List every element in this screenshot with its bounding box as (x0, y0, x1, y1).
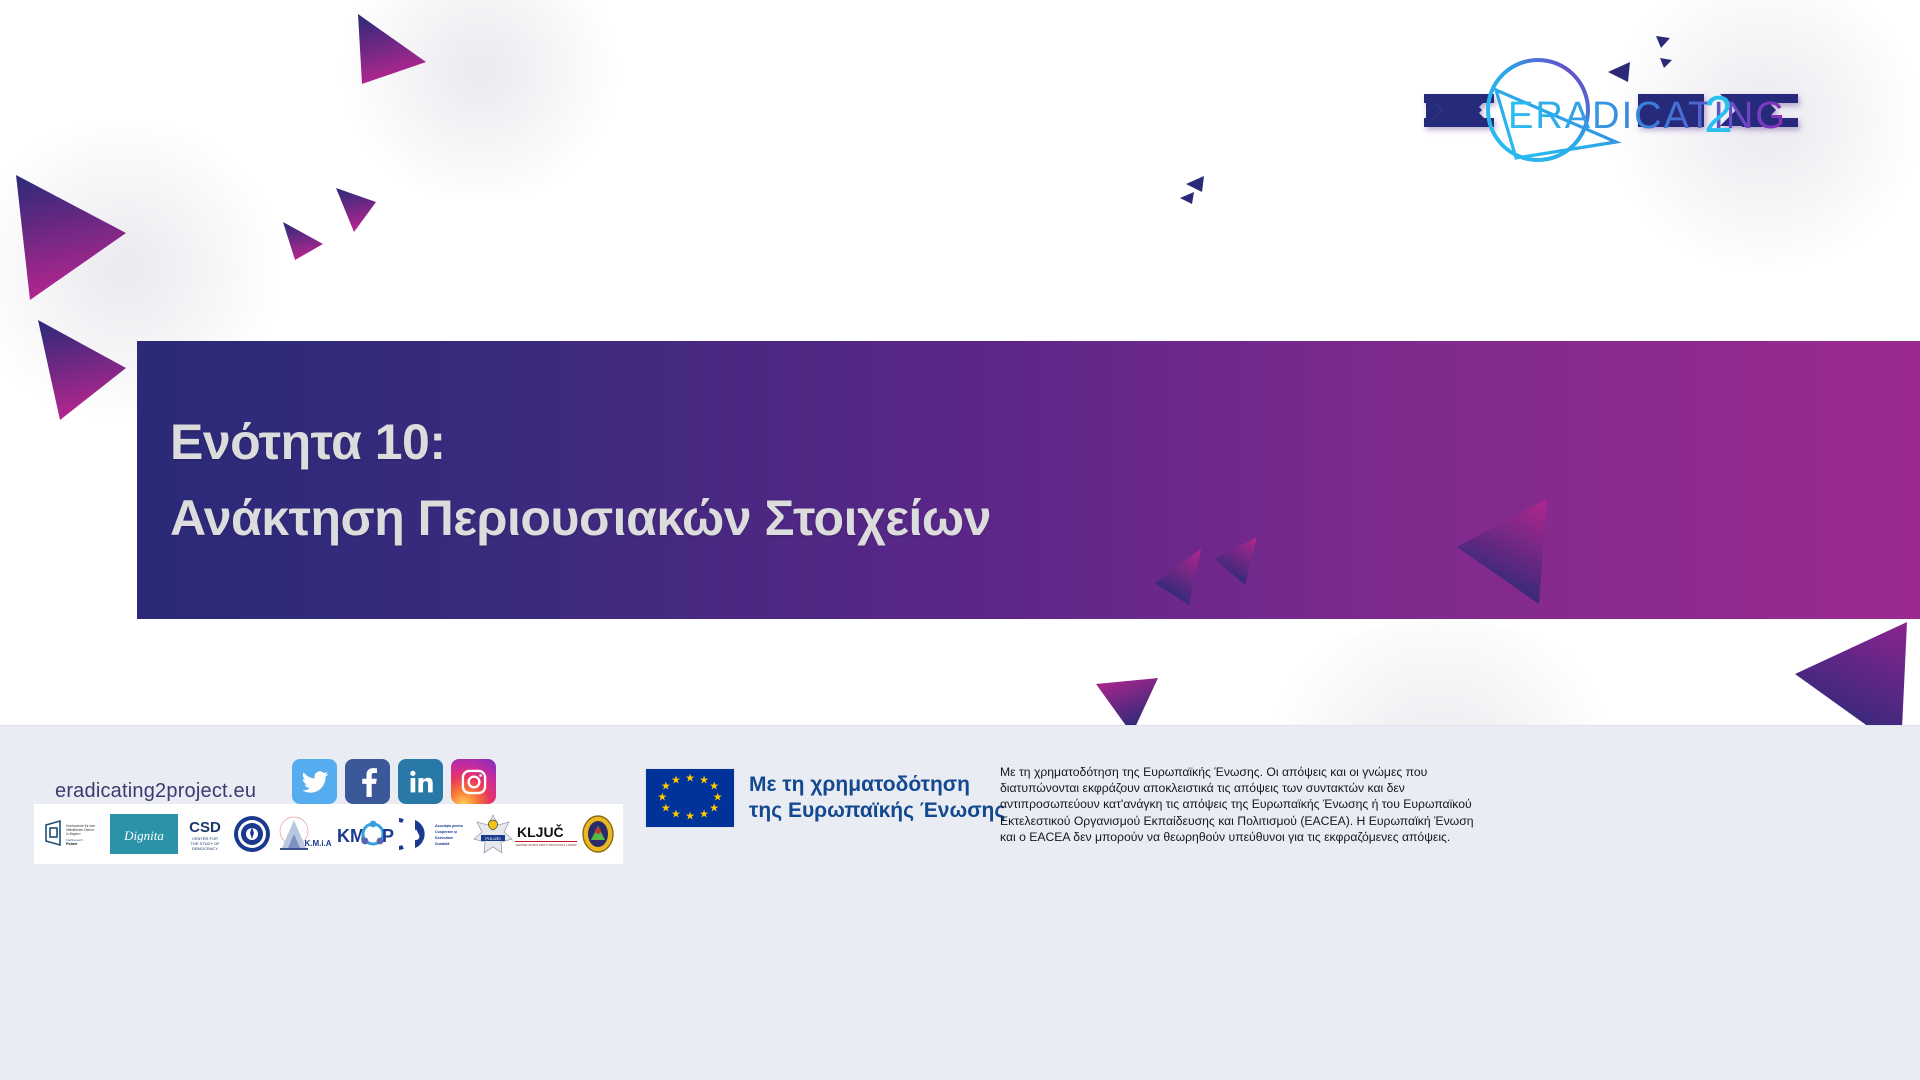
eu-funding-line-2: της Ευρωπαϊκής Ένωσης (749, 798, 1005, 824)
decor-triangle (1656, 36, 1670, 48)
decor-triangle (1155, 549, 1201, 605)
slide-title-line-2: Ανάκτηση Περιουσιακών Στοιχείων (170, 480, 1920, 556)
svg-text:Polizei: Polizei (66, 842, 77, 846)
svg-text:P: P (382, 826, 394, 846)
disclaimer-line: Με τη χρηματοδότηση της Ευρωπαϊκής Ένωση… (1000, 764, 1520, 780)
partner-logo-acdd: Asociaţia pentru Cooperare şi Dezvoltare… (399, 813, 471, 855)
decor-triangle (1186, 176, 1204, 192)
svg-text:POLIZEI: POLIZEI (485, 836, 500, 841)
svg-text:2: 2 (1704, 86, 1733, 144)
eu-funding-text: Με τη χρηματοδότηση της Ευρωπαϊκής Ένωση… (749, 772, 1005, 825)
eu-funding-line-1: Με τη χρηματοδότηση (749, 772, 1005, 798)
social-links (292, 759, 496, 804)
svg-text:KM: KM (337, 826, 365, 846)
eu-flag-icon: ★ ★ ★ ★ ★ ★ ★ ★ ★ ★ ★ ★ (645, 768, 735, 828)
svg-text:Dignita: Dignita (123, 828, 164, 843)
decor-triangle (358, 14, 426, 84)
disclaimer-line: και ο EACEA δεν μπορούν να θεωρηθούν υπε… (1000, 829, 1520, 845)
partner-logo-csd: CSD CENTER FOR THE STUDY OF DEMOCRACY (180, 813, 230, 855)
svg-text:KLJUČ: KLJUČ (517, 823, 564, 840)
svg-text:CENTER ZA BOJ PROTI TRGOVINI Z: CENTER ZA BOJ PROTI TRGOVINI Z LJUDMI (515, 843, 576, 847)
disclaimer-line: διατυπώνονται εκφράζουν αποκλειστικά τις… (1000, 780, 1520, 796)
decor-triangle (38, 320, 126, 420)
svg-text:Dezvoltare: Dezvoltare (435, 836, 453, 840)
svg-text:Cooperare şi: Cooperare şi (435, 830, 457, 834)
twitter-icon[interactable] (292, 759, 337, 804)
eu-disclaimer: Με τη χρηματοδότηση της Ευρωπαϊκής Ένωση… (1000, 764, 1520, 845)
partner-logo-kmia: K.M.i.A (274, 813, 332, 855)
svg-text:DEMOCRACY: DEMOCRACY (192, 846, 218, 851)
partner-logo-kmop: KM P (335, 813, 397, 855)
svg-text:in Bayern: in Bayern (66, 832, 80, 836)
partner-logo-hellenic-police (232, 813, 272, 855)
partner-logo-dignita: Dignita (110, 813, 178, 855)
facebook-icon[interactable] (345, 759, 390, 804)
eu-funding-block: ★ ★ ★ ★ ★ ★ ★ ★ ★ ★ ★ ★ Με τη χρηματοδότ… (645, 768, 1005, 828)
slide-footer: eradicating2project.eu (0, 725, 1920, 1080)
instagram-icon[interactable] (451, 759, 496, 804)
partner-logo-polizei-sachsen: POLIZEI (473, 813, 513, 855)
decor-triangle (336, 188, 376, 232)
slide-title-line-1: Ενότητα 10: (170, 404, 1920, 480)
partner-logo-crest (581, 813, 615, 855)
svg-text:CSD: CSD (189, 819, 221, 836)
decor-triangle (16, 175, 126, 300)
partner-logo-kljuc: KLJUČ CENTER ZA BOJ PROTI TRGOVINI Z LJU… (515, 813, 579, 855)
svg-text:K.M.i.A: K.M.i.A (305, 839, 332, 848)
linkedin-icon[interactable] (398, 759, 443, 804)
disclaimer-line: αντιπροσωπεύουν κατ'ανάγκη τις απόψεις τ… (1000, 796, 1520, 812)
website-url[interactable]: eradicating2project.eu (55, 780, 256, 803)
slide-canvas: ERADICATING 2 Ενότητα 10: Ανάκτηση Περιο… (0, 0, 1920, 1080)
decor-triangle (283, 222, 323, 260)
disclaimer-line: Εκτελεστικού Οργανισμού Εκπαίδευσης και … (1000, 813, 1520, 829)
svg-text:Durabilă: Durabilă (435, 842, 450, 846)
partner-logo-hfoed-bayern: Hochschule für den öffentlichen Dienst i… (42, 813, 108, 855)
decor-triangle (1180, 192, 1194, 204)
svg-text:Asociaţia pentru: Asociaţia pentru (435, 824, 463, 828)
title-banner: Ενότητα 10: Ανάκτηση Περιουσιακών Στοιχε… (137, 341, 1920, 619)
svg-text:ERADICATING: ERADICATING (1508, 95, 1787, 137)
partner-logos-strip: Hochschule für den öffentlichen Dienst i… (34, 804, 623, 864)
eradicating2-logo: ERADICATING 2 (1420, 50, 1820, 170)
